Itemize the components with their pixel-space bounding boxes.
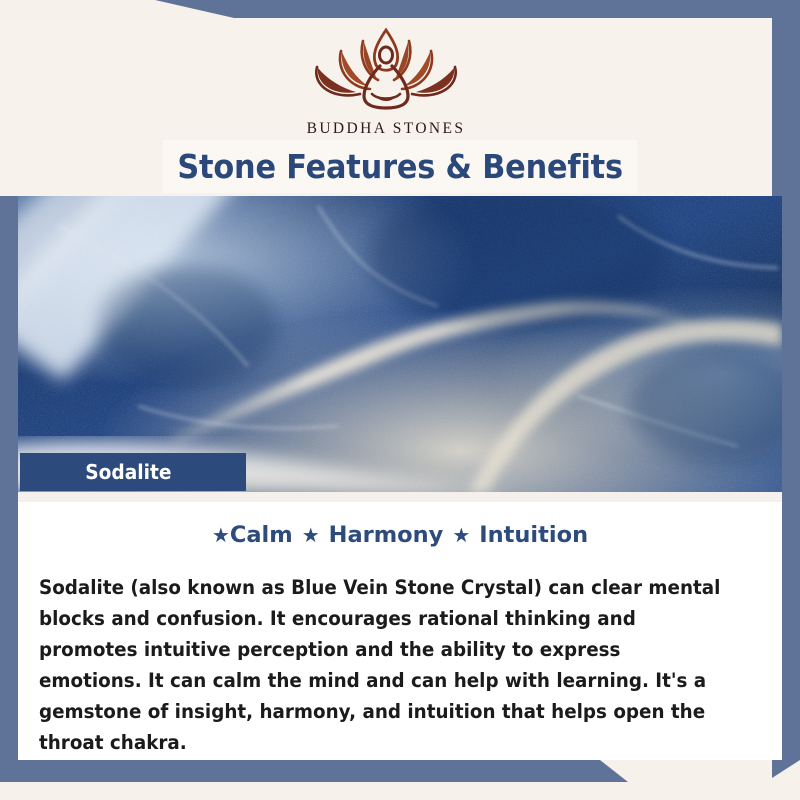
keyword-harmony: Harmony: [329, 522, 444, 548]
sodalite-stone-image: [18, 196, 782, 492]
stone-info-poster: BUDDHA STONES Stone Features & Benefits: [0, 0, 800, 800]
page-title: Stone Features & Benefits: [177, 147, 623, 186]
keyword-intuition: Intuition: [479, 522, 588, 548]
star-icon: ★: [452, 523, 470, 547]
stone-name-tag: Sodalite: [20, 453, 246, 491]
stone-texture-graphic: [18, 196, 782, 492]
top-accent-band: [155, 0, 800, 18]
star-icon: ★: [302, 523, 320, 547]
title-banner: Stone Features & Benefits: [163, 140, 637, 193]
stone-description: Sodalite (also known as Blue Vein Stone …: [39, 572, 725, 758]
brand-logo: BUDDHA STONES: [0, 22, 772, 138]
card-top-divider: [18, 492, 782, 502]
description-card: ★Calm★Harmony★Intuition Sodalite (also k…: [18, 492, 782, 760]
keyword-calm: Calm: [230, 522, 293, 548]
lotus-meditation-figure-icon: [302, 22, 470, 118]
bottom-accent-band: [0, 760, 628, 782]
brand-name: BUDDHA STONES: [0, 120, 772, 138]
star-icon: ★: [212, 523, 230, 547]
left-accent-strip: [0, 196, 18, 778]
keyword-list: ★Calm★Harmony★Intuition: [18, 522, 782, 548]
stone-name: Sodalite: [85, 460, 171, 484]
